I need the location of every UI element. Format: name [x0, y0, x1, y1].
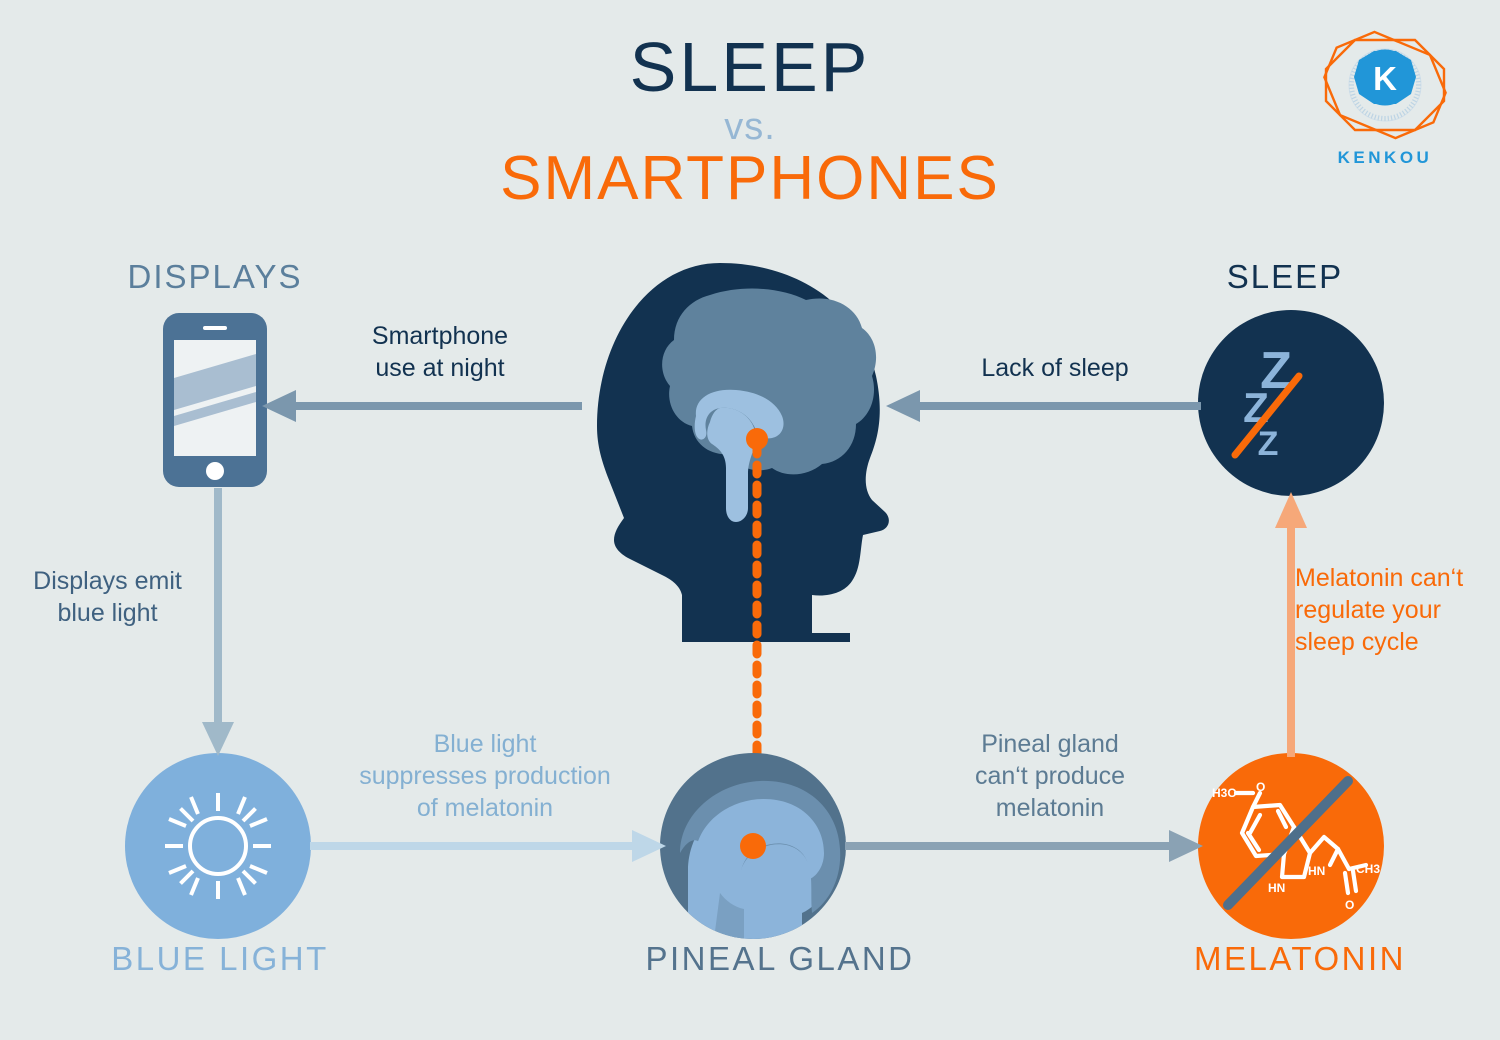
label-blue-light: BLUE LIGHT	[60, 940, 380, 978]
caption-displays-emit-blue-light: Displays emit blue light	[0, 565, 215, 629]
melatonin-node-circle[interactable]: H3O O HN HN CH3 O	[1198, 753, 1384, 939]
caption-lack-of-sleep: Lack of sleep	[915, 352, 1195, 384]
molecule-label-ch3: CH3	[1356, 862, 1380, 876]
caption-smartphone-use-at-night: Smartphone use at night	[300, 320, 580, 384]
logo-wordmark: KENKOU	[1310, 148, 1460, 168]
sun-icon	[125, 753, 311, 939]
logo-monogram: K	[1373, 60, 1397, 97]
blue-light-node-circle[interactable]	[125, 753, 311, 939]
pineal-dot-icon	[740, 833, 766, 859]
caption-blue-light-suppresses: Blue light suppresses production of mela…	[325, 728, 645, 824]
arrow-bluelight-to-pineal	[310, 828, 666, 864]
arrow-pineal-to-melatonin	[845, 828, 1203, 864]
sleep-node-circle[interactable]: Z Z Z	[1198, 310, 1384, 496]
no-sleep-icon: Z Z Z	[1198, 310, 1384, 496]
phone-speaker-icon	[203, 326, 227, 330]
phone-home-button-icon	[206, 462, 224, 480]
label-pineal-gland: PINEAL GLAND	[600, 940, 960, 978]
title-line-sleep: SLEEP	[0, 32, 1500, 102]
molecule-label-hn-right: HN	[1308, 864, 1325, 878]
pineal-gland-node-circle[interactable]	[660, 753, 846, 939]
section-header-displays: DISPLAYS	[0, 258, 430, 296]
arrow-sleep-to-brain	[886, 388, 1201, 424]
smartphone-icon	[160, 310, 270, 490]
infographic-canvas: SLEEP vs. SMARTPHONES K KENKOU DIS	[0, 0, 1500, 1040]
label-melatonin: MELATONIN	[1120, 940, 1480, 978]
title-line-smartphones: SMARTPHONES	[0, 148, 1500, 210]
section-header-sleep: SLEEP	[1070, 258, 1500, 296]
molecule-label-o-bottom: O	[1345, 898, 1354, 912]
page-title: SLEEP vs. SMARTPHONES	[0, 32, 1500, 210]
head-profile-icon	[660, 753, 846, 939]
smartphone-illustration[interactable]	[160, 310, 270, 490]
molecule-label-hn-left: HN	[1268, 881, 1285, 895]
z-small: Z	[1258, 425, 1279, 463]
caption-pineal-cant-produce: Pineal gland can‘t produce melatonin	[910, 728, 1190, 824]
arrow-brain-to-phone	[262, 388, 582, 424]
title-line-vs: vs.	[0, 108, 1500, 146]
molecule-label-o-top: O	[1256, 780, 1265, 794]
molecule-label-h3o: H3O	[1212, 786, 1237, 800]
melatonin-molecule-icon: H3O O HN HN CH3 O	[1198, 753, 1384, 939]
kenkou-logo[interactable]: K KENKOU	[1310, 24, 1460, 168]
caption-melatonin-cant-regulate: Melatonin can‘t regulate your sleep cycl…	[1295, 562, 1500, 658]
kenkou-badge-icon: K	[1310, 24, 1460, 146]
